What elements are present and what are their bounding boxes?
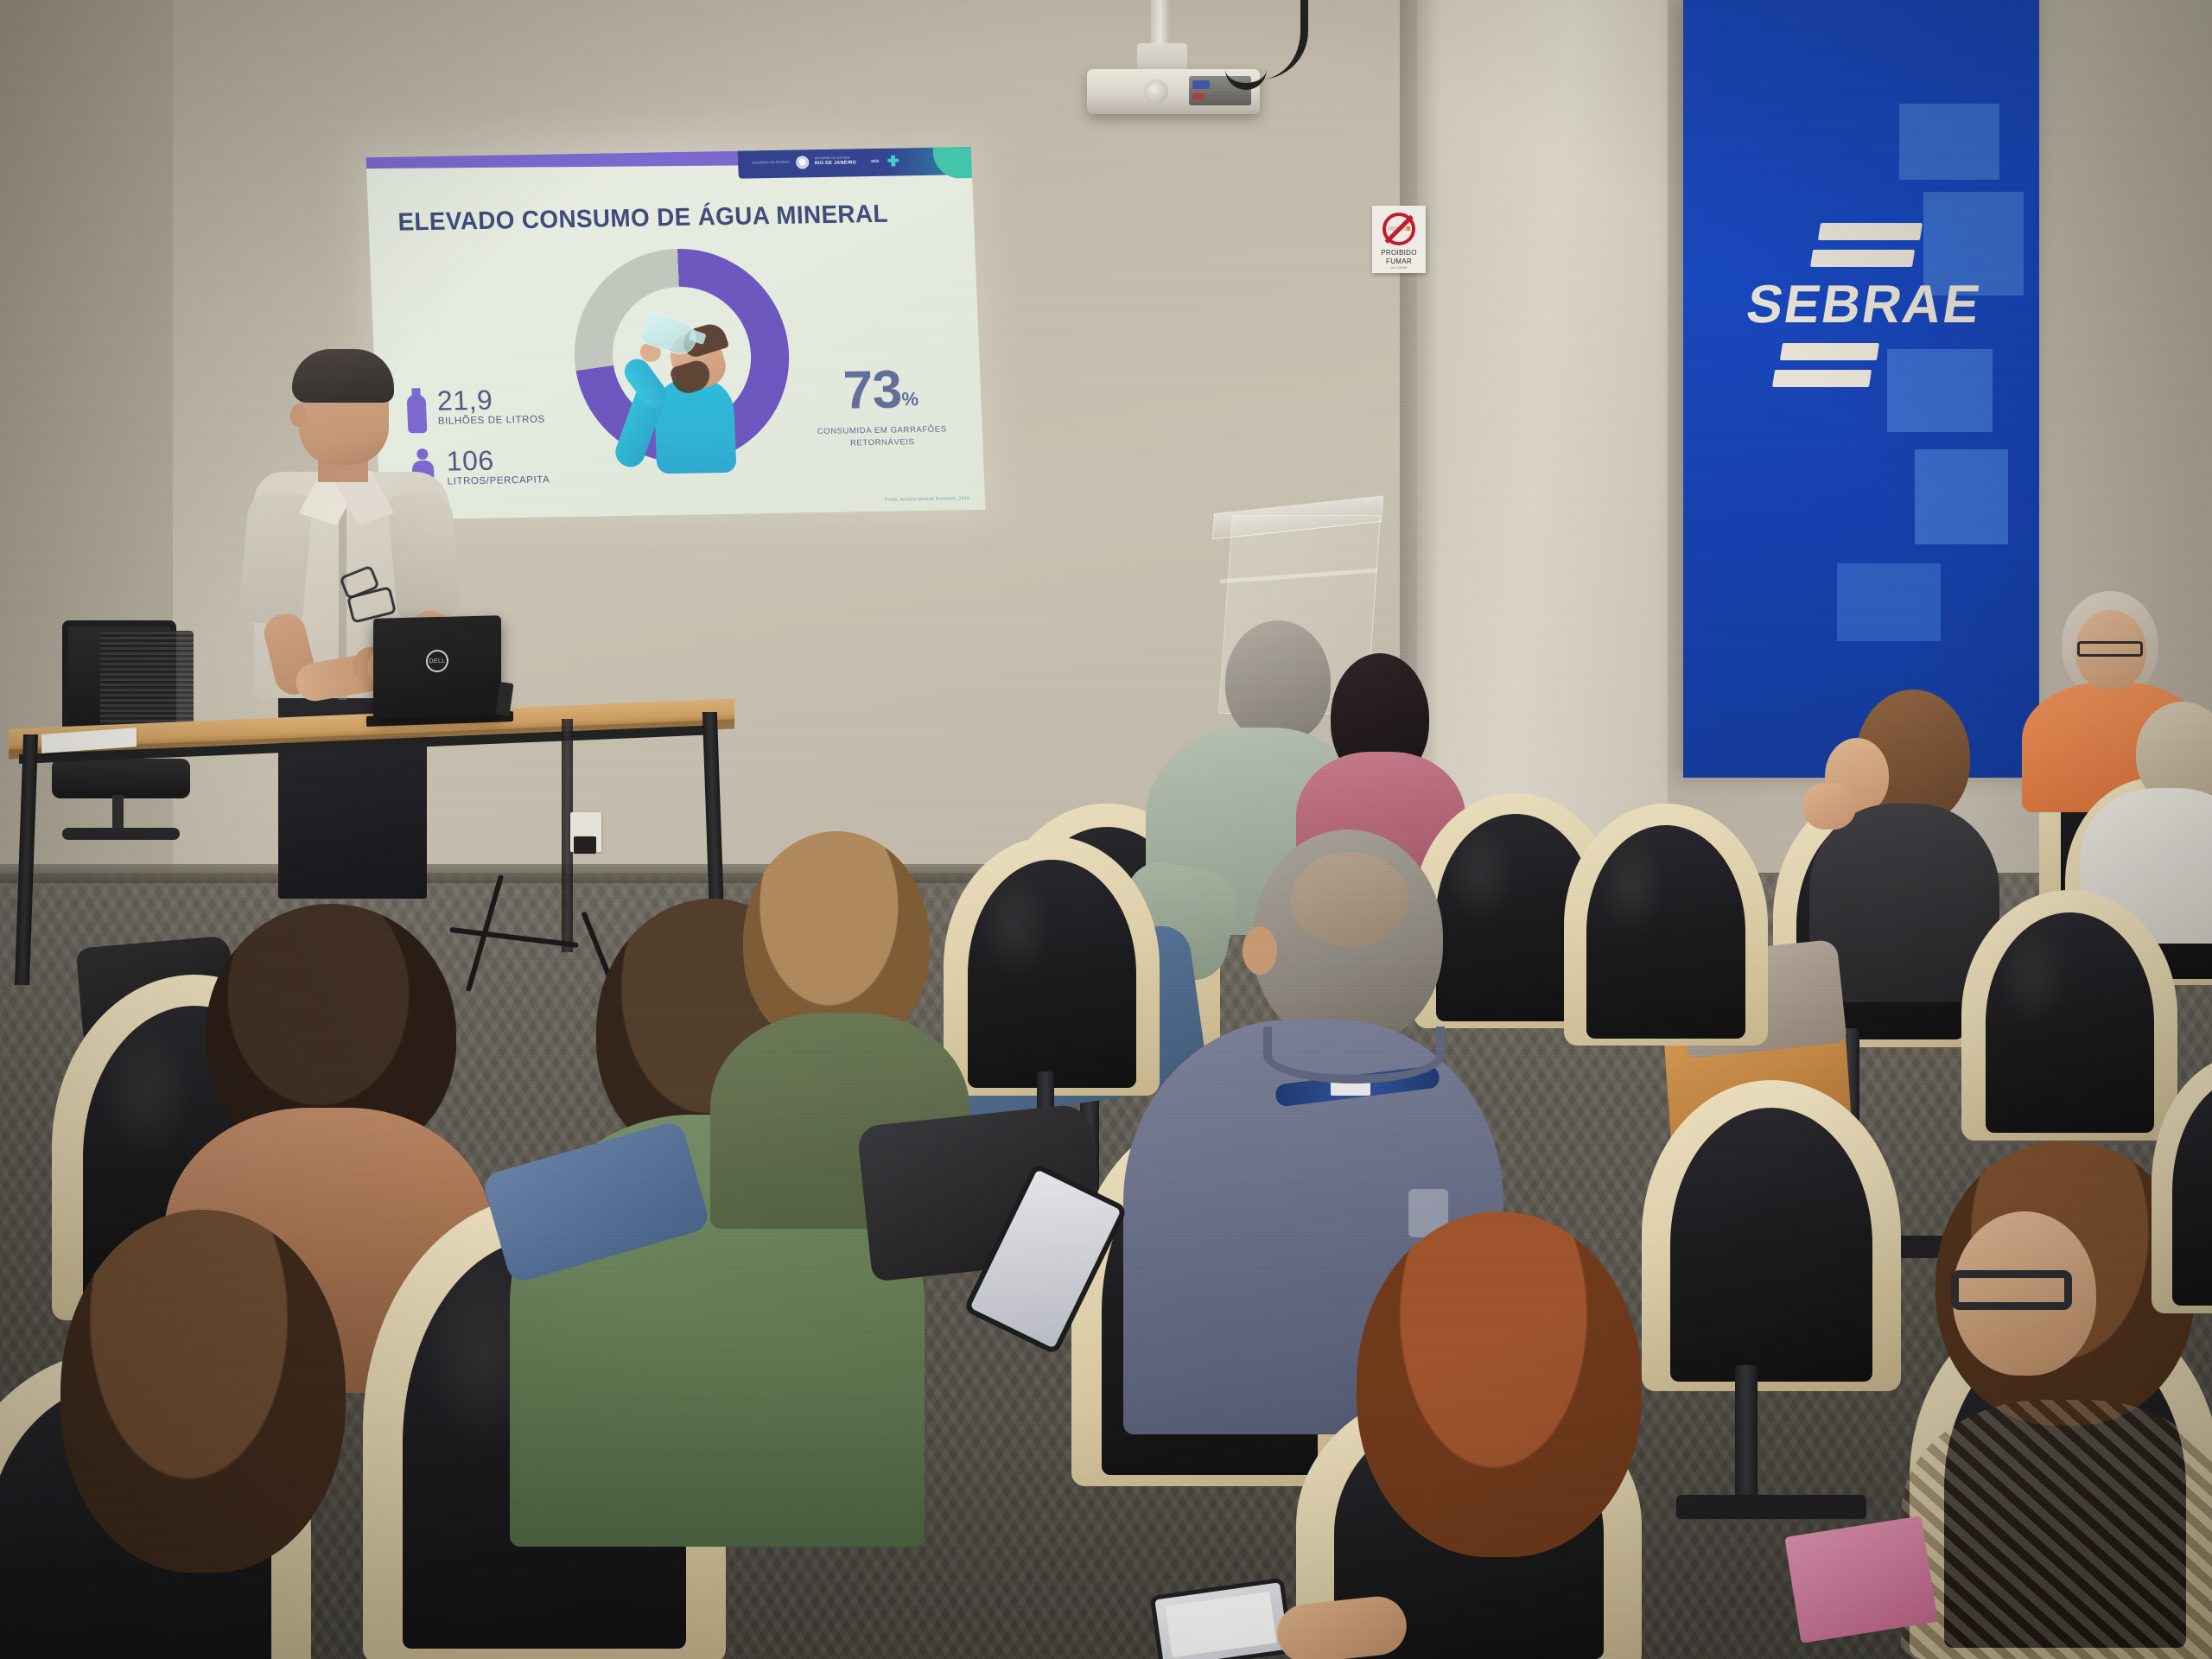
gov-name-label: GOVERNO DO ESTADO RIO DE JANEIRO [815,156,857,166]
no-smoking-line1: PROIBIDO [1372,249,1426,257]
auditorium-chair [1961,890,2177,1141]
gov-mini-text: GOVERNO DO ESTADO [752,161,790,165]
highlight-label: CONSUMIDA EM GARRAFÕES RETORNÁVEIS [809,423,955,449]
gov-brasao-icon [796,156,810,168]
highlight-number: 73 [842,359,903,420]
attendee-ear [1243,926,1277,975]
man-drinking-water-photo [612,297,759,464]
presenter-laptop: DELL [373,615,501,719]
slide-source: Fonte: Anuário Mineral Brasileiro, 2018 [885,496,969,503]
banner-square [1915,449,2008,544]
logo-bar [1810,250,1915,267]
health-cross-icon [887,155,899,166]
sebrae-wordmark: SEBRAE [1743,278,1967,332]
presenter-hair [292,349,394,403]
chair-leg [1735,1365,1758,1512]
attendee-bald-spot [1291,852,1408,947]
logo-bar [1772,370,1872,387]
chair-base [1676,1495,1866,1519]
projector-cable-loop [1225,47,1267,90]
banner-square [1899,104,1999,180]
highlight-value: 73% [807,365,954,416]
slide-title: ELEVADO CONSUMO DE ÁGUA MINERAL [397,200,889,238]
slide-header-band: GOVERNO DO ESTADO GOVERNO DO ESTADO RIO … [737,147,971,179]
attendee-head [1357,1211,1642,1557]
tshirt-neckline [1263,1027,1445,1084]
gov-name-main: RIO DE JANEIRO [815,160,856,166]
attendee-head [1225,620,1331,743]
pink-card [1784,1516,1937,1643]
sebrae-logo: SEBRAE [1734,223,1976,387]
eyeglasses-icon [2077,641,2143,657]
auditorium-chair [1642,1080,1901,1391]
logo-bar [1818,223,1923,240]
dell-logo: DELL [426,650,448,673]
vga-port [1192,80,1210,89]
auditorium-chair [944,836,1160,1096]
logo-bar [1780,343,1879,360]
presenter-ear [290,404,306,427]
attendee-patterned-top [1901,1400,2212,1659]
presenter-sleeve-right [387,490,461,621]
eyeglasses-icon [1951,1270,2072,1310]
no-smoking-line2: FUMAR [1372,257,1426,265]
cigarette-tip [1407,226,1410,231]
power-plug [574,836,596,854]
projector-lens-icon [1144,79,1168,104]
conference-room-photo: GOVERNO DO ESTADO GOVERNO DO ESTADO RIO … [0,0,2212,1659]
banner-square [1837,563,1941,641]
attendee-hand [1802,783,1856,829]
ses-label: SES [871,158,879,162]
donut-chart [570,247,793,465]
percent-sign: % [901,388,918,410]
no-smoking-line3: Lei 9.294/96 [1372,266,1426,270]
sebrae-banner: SEBRAE [1683,0,2039,778]
auditorium-chair [2152,1054,2212,1313]
audio-port [1192,93,1205,99]
attendee-head [60,1210,346,1573]
auditorium-chair [1564,804,1768,1046]
highlight-percentage: 73% CONSUMIDA EM GARRAFÕES RETORNÁVEIS [807,365,956,449]
no-smoking-sign: PROIBIDO FUMAR Lei 9.294/96 [1372,206,1426,273]
